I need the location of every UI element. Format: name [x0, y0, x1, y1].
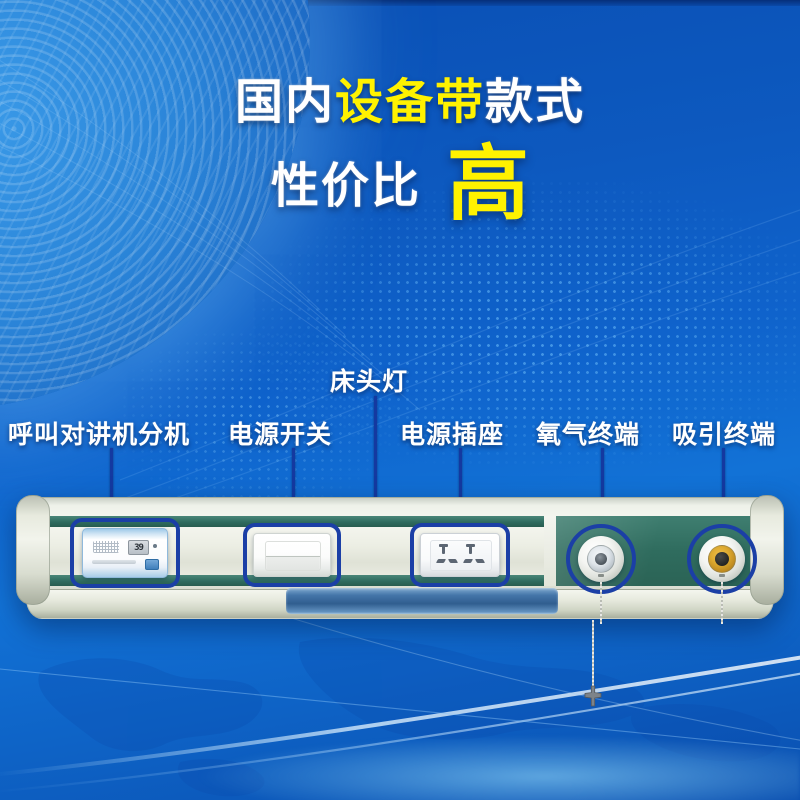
callout-label-power-socket: 电源插座 [400, 415, 504, 451]
bed-light-tube[interactable] [286, 588, 558, 614]
highlight-box-intercom [70, 518, 180, 588]
callout-label-bed-light: 床头灯 [330, 362, 408, 398]
oxygen-cord [600, 582, 602, 624]
pull-cord-handle-icon[interactable] [581, 684, 605, 708]
panel-end-cap-left [16, 495, 50, 605]
highlight-box-power-switch [243, 523, 341, 587]
highlight-box-power-socket [410, 523, 510, 587]
callout-label-power-switch: 电源开关 [228, 415, 332, 451]
callout-label-oxygen: 氧气终端 [536, 415, 640, 451]
suction-cord [721, 582, 723, 624]
callout-label-intercom: 呼叫对讲机分机 [8, 415, 190, 451]
panel-divider [544, 516, 556, 586]
pull-cord[interactable] [592, 620, 594, 692]
product-banner: 国内设备带款式 性价比 高 呼叫对讲机分机 电源开关 床头灯 电源插座 氧气终端… [0, 0, 800, 800]
callout-label-suction: 吸引终端 [672, 415, 776, 451]
